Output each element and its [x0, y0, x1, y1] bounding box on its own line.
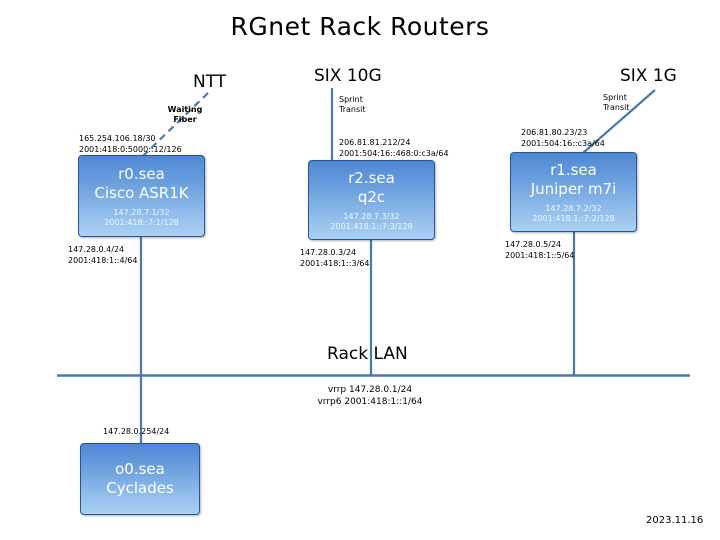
- router-loopback-v6-r1: 2001:418:1::7:2/128: [532, 214, 614, 224]
- router-loopbacks-r0: 147.28.7.1/32 2001:418::7:1/128: [104, 208, 179, 228]
- iface-addr-r0-uplink: 165.254.106.18/30 2001:418:0:5000::12/12…: [79, 134, 182, 155]
- router-box-r2[interactable]: r2.sea q2c 147.28.7.3/32 2001:418:1::7:3…: [308, 160, 435, 240]
- rack-lan-label: Rack LAN: [327, 344, 408, 364]
- iface-addr-r2-lan: 147.28.0.3/24 2001:418:1::3/64: [300, 248, 369, 269]
- iface-addr-o0-lan-v4: 147.28.0.254/24: [103, 427, 169, 438]
- link-note-ntt-line1: Waiting: [157, 105, 213, 115]
- link-note-six-10g-line1: Sprint: [339, 95, 366, 105]
- rack-lan-vrrp-v4: vrrp 147.28.0.1/24: [250, 384, 490, 396]
- link-note-six-1g-line2: Transit: [603, 103, 630, 113]
- router-name-r1: r1.sea: [550, 161, 597, 180]
- router-model-r1: Juniper m7i: [531, 180, 617, 199]
- router-loopback-v6-r0: 2001:418::7:1/128: [104, 218, 179, 228]
- peer-label-six-10g: SIX 10G: [314, 66, 382, 86]
- iface-addr-r1-lan: 147.28.0.5/24 2001:418:1::5/64: [505, 240, 574, 261]
- router-loopback-v4-r1: 147.28.7.2/32: [532, 204, 614, 214]
- diagram-canvas: RGnet Rack Routers NTT Waiting Fiber SIX…: [0, 0, 720, 540]
- link-note-ntt: Waiting Fiber: [157, 105, 213, 125]
- link-note-six-10g: Sprint Transit: [339, 95, 366, 115]
- router-loopback-v4-r0: 147.28.7.1/32: [104, 208, 179, 218]
- document-date: 2023.11.16: [646, 515, 703, 526]
- peer-label-six-1g: SIX 1G: [620, 66, 677, 86]
- iface-addr-r1-uplink-v6: 2001:504:16::c3a/64: [521, 139, 605, 150]
- iface-addr-r0-uplink-v6: 2001:418:0:5000::12/126: [79, 145, 182, 156]
- iface-addr-r1-lan-v4: 147.28.0.5/24: [505, 240, 574, 251]
- iface-addr-r2-lan-v6: 2001:418:1::3/64: [300, 259, 369, 270]
- console-server-box-o0[interactable]: o0.sea Cyclades: [80, 443, 200, 515]
- iface-addr-r1-lan-v6: 2001:418:1::5/64: [505, 251, 574, 262]
- rack-lan-vrrp-v6: vrrp6 2001:418:1::1/64: [250, 396, 490, 408]
- router-loopback-v6-r2: 2001:418:1::7:3/128: [330, 222, 412, 232]
- iface-addr-r2-lan-v4: 147.28.0.3/24: [300, 248, 369, 259]
- router-model-r2: q2c: [358, 188, 385, 207]
- iface-addr-r2-uplink-v6: 2001:504:16::468:0:c3a/64: [339, 149, 449, 160]
- iface-addr-o0-lan: 147.28.0.254/24: [103, 427, 169, 438]
- console-server-name-o0: o0.sea: [115, 460, 165, 479]
- peer-label-ntt: NTT: [193, 72, 226, 92]
- iface-addr-r2-uplink: 206.81.81.212/24 2001:504:16::468:0:c3a/…: [339, 138, 449, 159]
- router-loopbacks-r2: 147.28.7.3/32 2001:418:1::7:3/128: [330, 212, 412, 232]
- link-note-six-1g-line1: Sprint: [603, 93, 630, 103]
- iface-addr-r0-uplink-v4: 165.254.106.18/30: [79, 134, 182, 145]
- link-note-ntt-line2: Fiber: [157, 115, 213, 125]
- link-note-six-10g-line2: Transit: [339, 105, 366, 115]
- router-box-r0[interactable]: r0.sea Cisco ASR1K 147.28.7.1/32 2001:41…: [78, 155, 205, 237]
- iface-addr-r1-uplink-v4: 206.81.80.23/23: [521, 128, 605, 139]
- rack-lan-vrrp: vrrp 147.28.0.1/24 vrrp6 2001:418:1::1/6…: [250, 384, 490, 408]
- page-title: RGnet Rack Routers: [0, 12, 720, 41]
- link-note-six-1g: Sprint Transit: [603, 93, 630, 113]
- iface-addr-r0-lan-v4: 147.28.0.4/24: [68, 245, 137, 256]
- console-server-model-o0: Cyclades: [106, 479, 174, 498]
- iface-addr-r2-uplink-v4: 206.81.81.212/24: [339, 138, 449, 149]
- router-box-r1[interactable]: r1.sea Juniper m7i 147.28.7.2/32 2001:41…: [510, 152, 637, 232]
- iface-addr-r1-uplink: 206.81.80.23/23 2001:504:16::c3a/64: [521, 128, 605, 149]
- router-name-r2: r2.sea: [348, 169, 395, 188]
- router-loopbacks-r1: 147.28.7.2/32 2001:418:1::7:2/128: [532, 204, 614, 224]
- iface-addr-r0-lan: 147.28.0.4/24 2001:418:1::4/64: [68, 245, 137, 266]
- router-model-r0: Cisco ASR1K: [94, 184, 188, 203]
- router-loopback-v4-r2: 147.28.7.3/32: [330, 212, 412, 222]
- iface-addr-r0-lan-v6: 2001:418:1::4/64: [68, 256, 137, 267]
- router-name-r0: r0.sea: [118, 165, 165, 184]
